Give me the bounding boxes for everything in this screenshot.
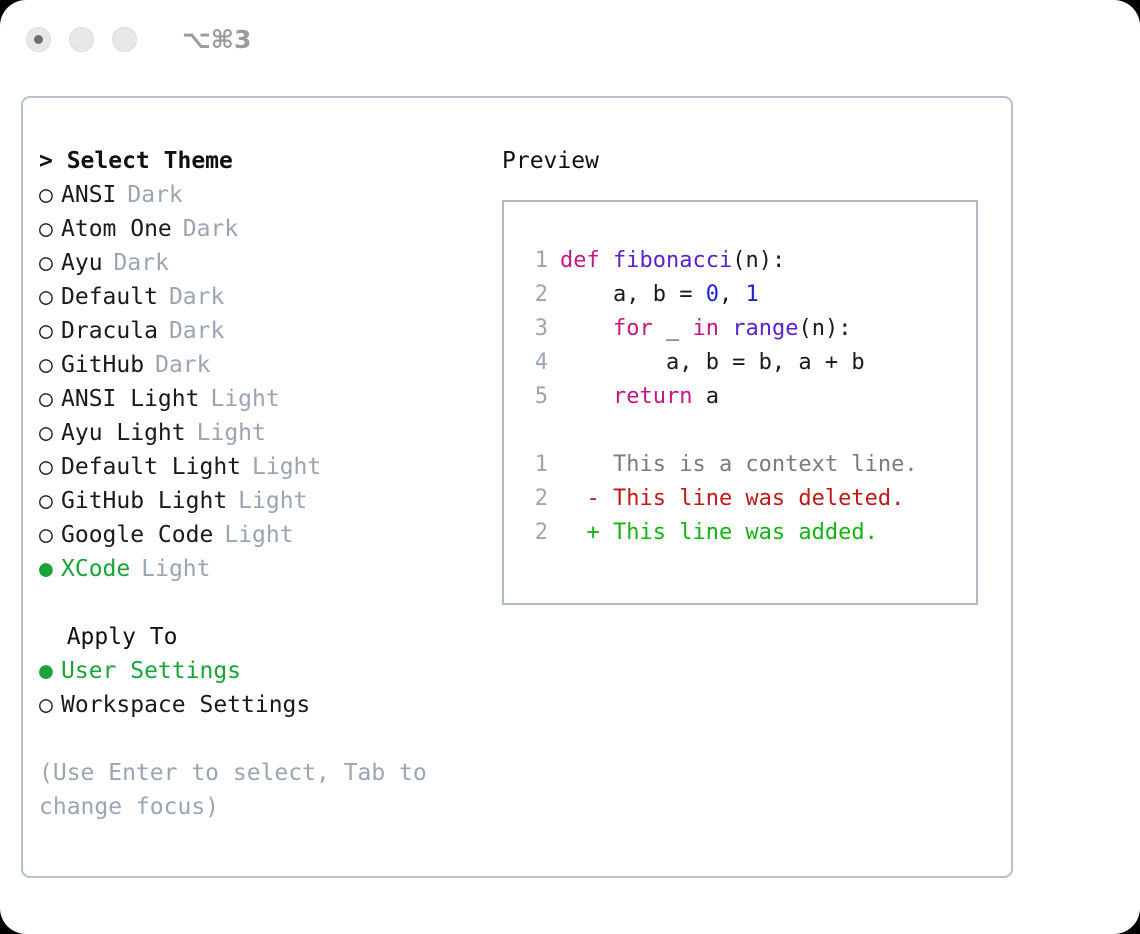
code-token-txt: a bbox=[692, 384, 719, 409]
theme-item-label: Default bbox=[61, 280, 158, 314]
diff-line-text: - This line was deleted. bbox=[560, 482, 904, 516]
keyboard-shortcut-label: ⌥⌘3 bbox=[182, 25, 251, 54]
theme-item-7[interactable]: ○Ayu LightLight bbox=[39, 416, 489, 450]
code-token-fn: range bbox=[732, 316, 798, 341]
theme-item-kind-badge: Dark bbox=[169, 314, 224, 348]
theme-item-label: XCode bbox=[61, 552, 130, 586]
code-line-text: for _ in range(n): bbox=[560, 312, 851, 346]
code-line-text: a, b = 0, 1 bbox=[560, 278, 759, 312]
theme-item-8[interactable]: ○Default LightLight bbox=[39, 450, 489, 484]
theme-item-label: Ayu bbox=[61, 246, 103, 280]
diff-line-number: 2 bbox=[522, 516, 548, 550]
code-line: 2 a, b = 0, 1 bbox=[522, 278, 976, 312]
theme-item-kind-badge: Dark bbox=[127, 178, 182, 212]
theme-item-3[interactable]: ○DefaultDark bbox=[39, 280, 489, 314]
code-token-txt bbox=[719, 316, 732, 341]
code-line-number: 4 bbox=[522, 346, 548, 380]
apply-item-0[interactable]: ●User Settings bbox=[39, 654, 489, 688]
theme-item-2[interactable]: ○AyuDark bbox=[39, 246, 489, 280]
radio-unselected-icon: ○ bbox=[39, 246, 61, 280]
main-panel: > Select Theme ○ANSIDark○Atom OneDark○Ay… bbox=[21, 96, 1013, 878]
code-line-number: 5 bbox=[522, 380, 548, 414]
theme-item-label: Atom One bbox=[61, 212, 172, 246]
code-line-number: 1 bbox=[522, 244, 548, 278]
theme-item-label: Google Code bbox=[61, 518, 213, 552]
window-dot-3-icon[interactable] bbox=[112, 27, 137, 52]
diff-line: 1 This is a context line. bbox=[522, 448, 976, 482]
radio-unselected-icon: ○ bbox=[39, 518, 61, 552]
code-line: 3 for _ in range(n): bbox=[522, 312, 976, 346]
code-line: 4 a, b = b, a + b bbox=[522, 346, 976, 380]
diff-sample: 1 This is a context line.2 - This line w… bbox=[522, 448, 976, 550]
theme-item-kind-badge: Dark bbox=[155, 348, 210, 382]
theme-item-5[interactable]: ○GitHubDark bbox=[39, 348, 489, 382]
apply-to-header: Apply To bbox=[39, 620, 489, 654]
theme-item-label: Dracula bbox=[61, 314, 158, 348]
code-token-kw: return bbox=[613, 384, 692, 409]
code-token-fn: fibonacci bbox=[613, 248, 732, 273]
theme-item-label: GitHub bbox=[61, 348, 144, 382]
theme-item-kind-badge: Light bbox=[197, 416, 266, 450]
code-line-number: 2 bbox=[522, 278, 548, 312]
theme-item-11[interactable]: ●XCodeLight bbox=[39, 552, 489, 586]
code-diff-gap bbox=[522, 414, 976, 448]
theme-item-kind-badge: Dark bbox=[169, 280, 224, 314]
code-token-txt: , bbox=[719, 282, 746, 307]
list-spacer bbox=[39, 586, 489, 620]
theme-item-kind-badge: Light bbox=[141, 552, 210, 586]
theme-item-label: Default Light bbox=[61, 450, 241, 484]
theme-item-1[interactable]: ○Atom OneDark bbox=[39, 212, 489, 246]
theme-item-label: GitHub Light bbox=[61, 484, 227, 518]
code-token-num: 1 bbox=[745, 282, 758, 307]
code-token-txt: _ bbox=[653, 316, 693, 341]
preview-column: Preview 1def fibonacci(n):2 a, b = 0, 13… bbox=[502, 144, 997, 605]
record-dot-icon[interactable] bbox=[26, 27, 51, 52]
theme-item-kind-badge: Dark bbox=[114, 246, 169, 280]
code-line-text: return a bbox=[560, 380, 719, 414]
radio-unselected-icon: ○ bbox=[39, 484, 61, 518]
radio-unselected-icon: ○ bbox=[39, 314, 61, 348]
apply-item-1[interactable]: ○Workspace Settings bbox=[39, 688, 489, 722]
app-window: ⌥⌘3 > Select Theme ○ANSIDark○Atom OneDar… bbox=[0, 0, 1140, 934]
code-token-txt: (n): bbox=[798, 316, 851, 341]
code-sample: 1def fibonacci(n):2 a, b = 0, 13 for _ i… bbox=[522, 244, 976, 414]
code-token-txt bbox=[560, 316, 613, 341]
diff-line-number: 1 bbox=[522, 448, 548, 482]
code-token-kw: for bbox=[613, 316, 653, 341]
preview-label: Preview bbox=[502, 144, 997, 178]
radio-unselected-icon: ○ bbox=[39, 212, 61, 246]
diff-line-number: 2 bbox=[522, 482, 548, 516]
theme-item-kind-badge: Light bbox=[210, 382, 279, 416]
radio-unselected-icon: ○ bbox=[39, 348, 61, 382]
apply-item-label: User Settings bbox=[61, 654, 241, 688]
code-token-txt: a, b = bbox=[560, 282, 706, 307]
code-line: 1def fibonacci(n): bbox=[522, 244, 976, 278]
code-token-txt bbox=[560, 384, 613, 409]
keyboard-hint: (Use Enter to select, Tab to change focu… bbox=[39, 756, 459, 824]
code-line-text: def fibonacci(n): bbox=[560, 244, 785, 278]
apply-item-label: Workspace Settings bbox=[61, 688, 310, 722]
theme-item-0[interactable]: ○ANSIDark bbox=[39, 178, 489, 212]
code-token-txt: (n): bbox=[732, 248, 785, 273]
radio-unselected-icon: ○ bbox=[39, 178, 61, 212]
theme-picker-column: > Select Theme ○ANSIDark○Atom OneDark○Ay… bbox=[39, 144, 489, 824]
select-theme-header: > Select Theme bbox=[39, 144, 489, 178]
diff-line-text: This is a context line. bbox=[560, 448, 918, 482]
theme-item-kind-badge: Light bbox=[224, 518, 293, 552]
preview-box: 1def fibonacci(n):2 a, b = 0, 13 for _ i… bbox=[502, 200, 978, 605]
code-token-num: 0 bbox=[706, 282, 719, 307]
radio-selected-icon: ● bbox=[39, 654, 61, 688]
record-dot-inner bbox=[34, 35, 43, 44]
radio-unselected-icon: ○ bbox=[39, 416, 61, 450]
diff-line: 2 + This line was added. bbox=[522, 516, 976, 550]
radio-unselected-icon: ○ bbox=[39, 450, 61, 484]
theme-item-kind-badge: Dark bbox=[183, 212, 238, 246]
window-dot-2-icon[interactable] bbox=[69, 27, 94, 52]
radio-unselected-icon: ○ bbox=[39, 688, 61, 722]
code-line-text: a, b = b, a + b bbox=[560, 346, 865, 380]
diff-line-text: + This line was added. bbox=[560, 516, 878, 550]
title-bar: ⌥⌘3 bbox=[0, 0, 1140, 78]
apply-to-list[interactable]: ●User Settings○Workspace Settings bbox=[39, 654, 489, 722]
code-line-number: 3 bbox=[522, 312, 548, 346]
theme-item-label: Ayu Light bbox=[61, 416, 186, 450]
theme-item-label: ANSI bbox=[61, 178, 116, 212]
code-token-kw: in bbox=[692, 316, 719, 341]
diff-line: 2 - This line was deleted. bbox=[522, 482, 976, 516]
hint-spacer bbox=[39, 722, 489, 756]
theme-item-label: ANSI Light bbox=[61, 382, 199, 416]
theme-item-kind-badge: Light bbox=[238, 484, 307, 518]
theme-item-9[interactable]: ○GitHub LightLight bbox=[39, 484, 489, 518]
window-controls bbox=[26, 27, 137, 52]
theme-item-10[interactable]: ○Google CodeLight bbox=[39, 518, 489, 552]
code-line: 5 return a bbox=[522, 380, 976, 414]
theme-list[interactable]: ○ANSIDark○Atom OneDark○AyuDark○DefaultDa… bbox=[39, 178, 489, 586]
radio-unselected-icon: ○ bbox=[39, 382, 61, 416]
theme-item-6[interactable]: ○ANSI LightLight bbox=[39, 382, 489, 416]
theme-item-4[interactable]: ○DraculaDark bbox=[39, 314, 489, 348]
code-token-txt: a, b = b, a + b bbox=[560, 350, 865, 375]
theme-item-kind-badge: Light bbox=[252, 450, 321, 484]
radio-unselected-icon: ○ bbox=[39, 280, 61, 314]
code-token-kw: def bbox=[560, 248, 613, 273]
radio-selected-icon: ● bbox=[39, 552, 61, 586]
